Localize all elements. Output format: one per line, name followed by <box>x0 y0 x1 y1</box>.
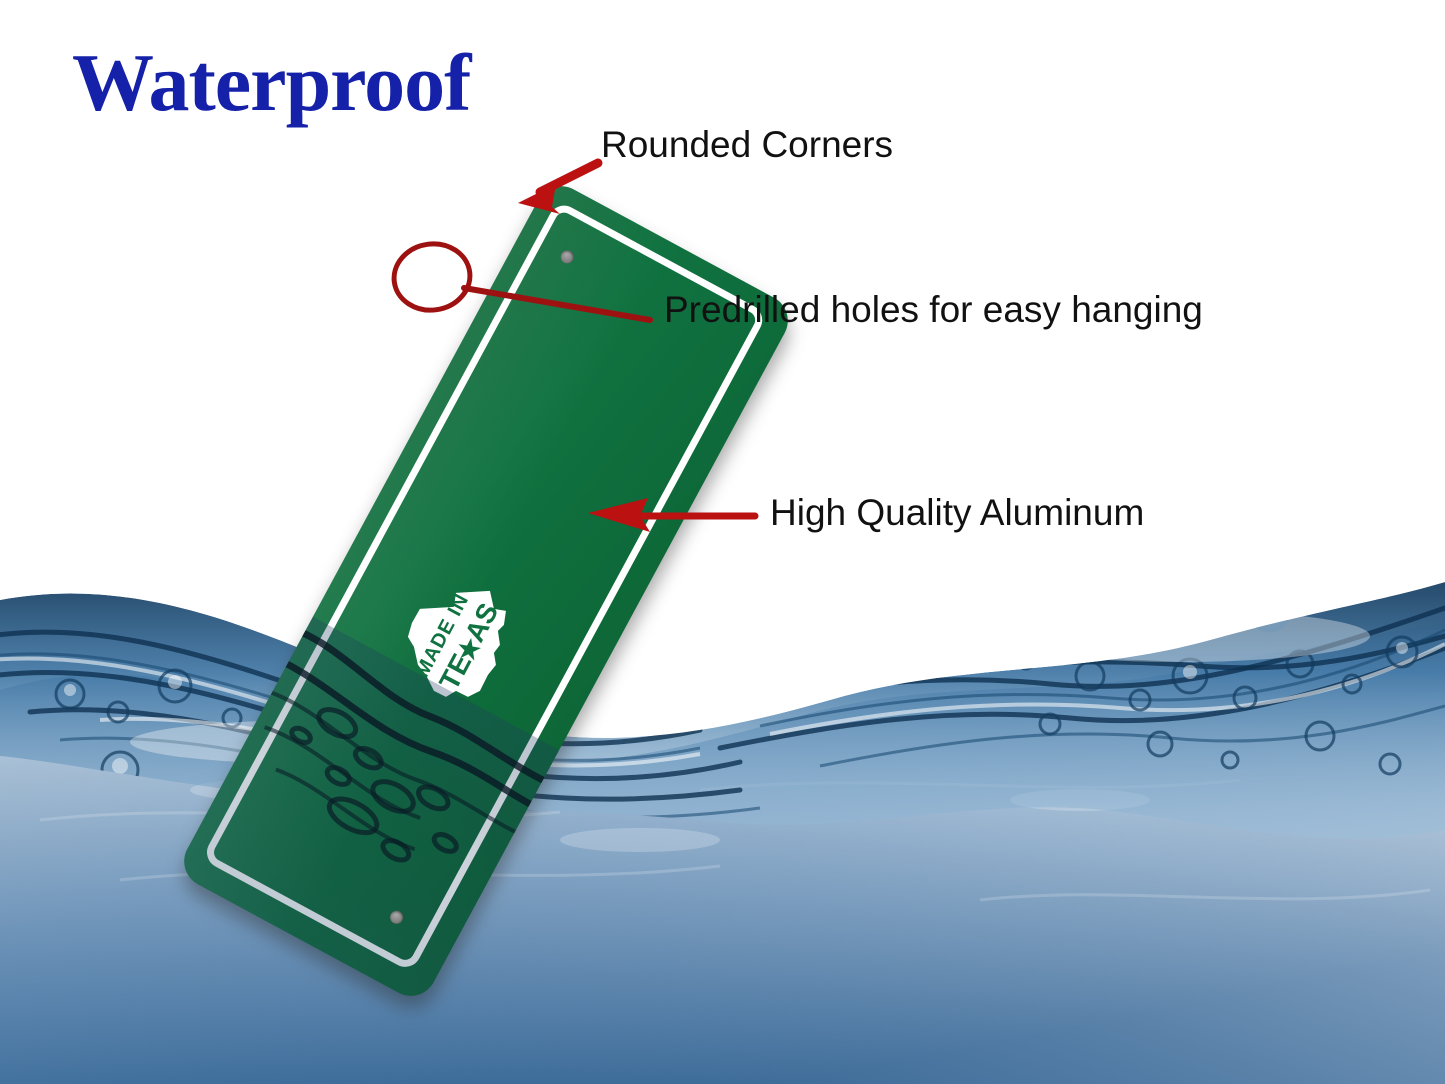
annotation-label-high-quality-aluminum: High Quality Aluminum <box>770 494 1144 531</box>
product-feature-image: Waterproof MADE IN TE ★ AS <box>0 0 1445 1084</box>
annotation-label-predrilled-holes: Predrilled holes for easy hanging <box>664 291 1203 328</box>
page-title: Waterproof <box>72 42 470 124</box>
made-in-texas-badge: MADE IN TE ★ AS <box>394 579 522 707</box>
annotation-label-rounded-corners: Rounded Corners <box>601 126 893 163</box>
